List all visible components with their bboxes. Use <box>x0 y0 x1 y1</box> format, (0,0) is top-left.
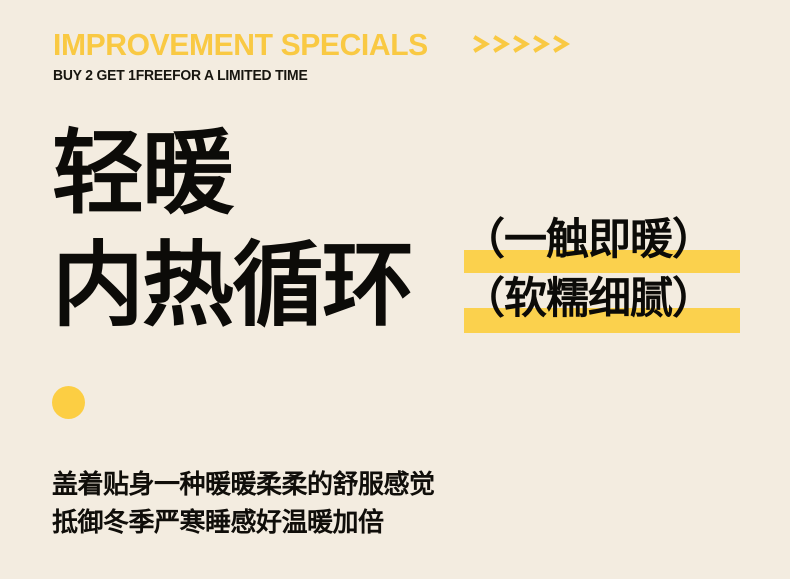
promo-subtitle: BUY 2 GET 1FREEFOR A LIMITED TIME <box>53 69 725 84</box>
footnote-line-2: 抵御冬季严寒睡感好温暖加倍 <box>52 504 435 542</box>
footnote-line-1: 盖着贴身一种暖暖柔柔的舒服感觉 <box>52 466 435 504</box>
headline-line-2: 内热循环 <box>52 230 412 342</box>
feature-label: （一触即暖） <box>462 214 714 266</box>
double-chevron-right-icon <box>473 33 578 55</box>
eyebrow-row: IMPROVEMENT SPECIALS <box>53 26 753 62</box>
page-title: 轻暖 内热循环 <box>52 118 412 342</box>
promo-poster: IMPROVEMENT SPECIALS BUY 2 GET 1FREEFOR … <box>0 0 790 579</box>
headline-line-1: 轻暖 <box>52 118 412 230</box>
feature-line: （软糯细腻） <box>462 273 714 332</box>
header-block: IMPROVEMENT SPECIALS BUY 2 GET 1FREEFOR … <box>53 26 753 84</box>
feature-highlight-group: （一触即暖） （软糯细腻） <box>462 214 714 332</box>
footnote-block: 盖着贴身一种暖暖柔柔的舒服感觉 抵御冬季严寒睡感好温暖加倍 <box>52 466 435 542</box>
feature-line: （一触即暖） <box>462 214 714 273</box>
yellow-dot-icon <box>52 386 85 419</box>
feature-label: （软糯细腻） <box>462 273 714 325</box>
eyebrow-title: IMPROVEMENT SPECIALS <box>53 29 428 60</box>
